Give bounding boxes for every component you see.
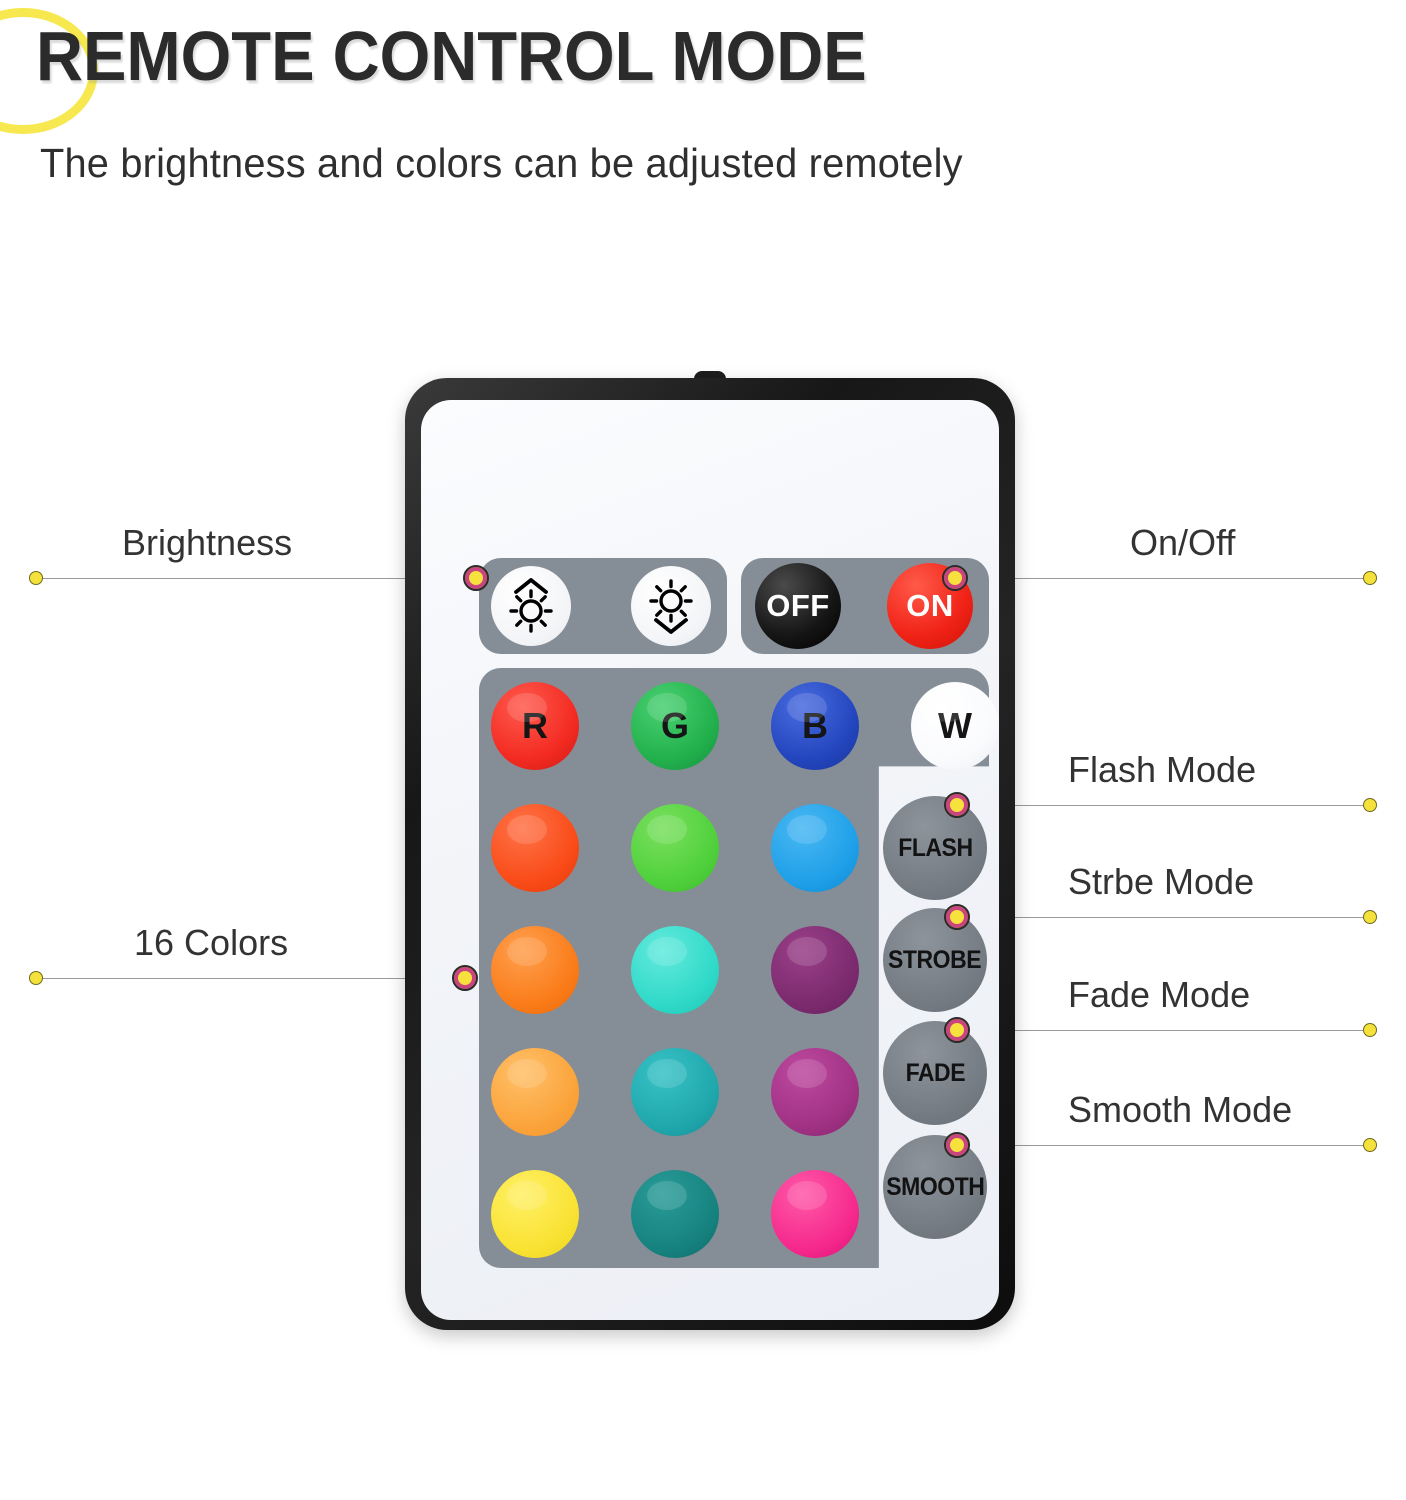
callout-end-dot (1363, 571, 1377, 585)
callout-line (958, 805, 1370, 806)
target-dot-strobe (944, 904, 970, 930)
remote-body: OFF ON R G B W (405, 378, 1015, 1330)
callout-line (958, 917, 1370, 918)
color-button-magenta-purple[interactable] (771, 1048, 859, 1136)
color-button-dark-purple[interactable] (771, 926, 859, 1014)
brightness-down-button[interactable] (631, 566, 711, 646)
brightness-up-button[interactable] (491, 566, 571, 646)
callout-line (955, 578, 1370, 579)
callout-label: Strbe Mode (1068, 861, 1254, 903)
color-button-orange-red[interactable] (491, 804, 579, 892)
color-button-b[interactable]: B (771, 682, 859, 770)
target-dot-smooth (944, 1132, 970, 1158)
color-button-yellow[interactable] (491, 1170, 579, 1258)
callout-end-dot (29, 971, 43, 985)
page-subtitle: The brightness and colors can be adjuste… (40, 140, 963, 187)
target-dot-16-colors (452, 965, 478, 991)
callout-line (958, 1030, 1370, 1031)
target-dot-flash (944, 792, 970, 818)
color-button-turquoise[interactable] (631, 926, 719, 1014)
off-button[interactable]: OFF (755, 563, 841, 649)
color-button-g[interactable]: G (631, 682, 719, 770)
callout-label: On/Off (1130, 522, 1235, 564)
color-button-light-orange[interactable] (491, 1048, 579, 1136)
flash-mode-button[interactable]: FLASH (883, 796, 987, 900)
header: REMOTE CONTROL MODE The brightness and c… (0, 0, 1406, 215)
callout-label: Fade Mode (1068, 974, 1250, 1016)
sun-up-icon (503, 578, 559, 634)
callout-label: Smooth Mode (1068, 1089, 1292, 1131)
color-button-sky-blue[interactable] (771, 804, 859, 892)
callout-end-dot (1363, 798, 1377, 812)
remote-face: OFF ON R G B W (421, 400, 999, 1320)
target-dot-on-off (942, 565, 968, 591)
flash-mode-label: FLASH (898, 834, 972, 863)
callout-label: Brightness (122, 522, 292, 564)
callout-end-dot (1363, 910, 1377, 924)
fade-mode-button[interactable]: FADE (883, 1021, 987, 1125)
fade-mode-label: FADE (905, 1059, 965, 1088)
infographic-page: REMOTE CONTROL MODE The brightness and c… (0, 0, 1406, 1500)
callout-label: 16 Colors (134, 922, 288, 964)
color-button-teal[interactable] (631, 1048, 719, 1136)
color-button-pink[interactable] (771, 1170, 859, 1258)
target-dot-fade (944, 1017, 970, 1043)
remote-control: OFF ON R G B W (405, 372, 1015, 1330)
callout-end-dot (1363, 1138, 1377, 1152)
color-button-w[interactable]: W (911, 682, 999, 770)
target-dot-brightness (463, 565, 489, 591)
color-button-orange[interactable] (491, 926, 579, 1014)
callout-label: Flash Mode (1068, 749, 1256, 791)
callout-end-dot (1363, 1023, 1377, 1037)
brightness-pad (479, 558, 727, 654)
color-button-light-green[interactable] (631, 804, 719, 892)
page-title: REMOTE CONTROL MODE (36, 20, 867, 94)
color-button-dark-teal[interactable] (631, 1170, 719, 1258)
smooth-mode-button[interactable]: SMOOTH (883, 1135, 987, 1239)
strobe-mode-button[interactable]: STROBE (883, 908, 987, 1012)
sun-down-icon (643, 578, 699, 634)
strobe-mode-label: STROBE (888, 946, 981, 975)
smooth-mode-label: SMOOTH (886, 1173, 984, 1202)
color-button-r[interactable]: R (491, 682, 579, 770)
callout-end-dot (29, 571, 43, 585)
callout-line (958, 1145, 1370, 1146)
